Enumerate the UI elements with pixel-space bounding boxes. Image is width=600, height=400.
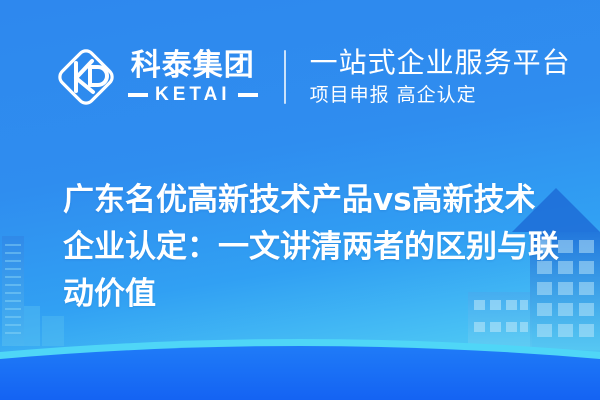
- ketai-kt-monogram-icon: [56, 47, 116, 107]
- tagline-block: 一站式企业服务平台 项目申报 高企认定: [310, 46, 571, 108]
- banner-header: 科泰集团 KETAI 一站式企业服务平台 项目申报 高企认定: [0, 34, 600, 120]
- tagline-secondary: 项目申报 高企认定: [310, 82, 571, 108]
- page-title: 广东名优高新技术产品vs高新技术企业认定：一文讲清两者的区别与联动价值: [63, 177, 563, 318]
- dash-right-icon: [238, 93, 258, 97]
- brand-wordmark: 科泰集团 KETAI: [128, 50, 258, 105]
- brand-name-cn: 科泰集团: [131, 50, 255, 82]
- curved-ground-wave: [0, 339, 600, 400]
- dash-left-icon: [128, 93, 148, 97]
- header-divider: [284, 50, 286, 104]
- brand-logo: 科泰集团 KETAI: [56, 47, 258, 107]
- brand-name-latin: KETAI: [155, 85, 231, 105]
- brand-name-latin-row: KETAI: [128, 85, 258, 105]
- promo-banner: 科泰集团 KETAI 一站式企业服务平台 项目申报 高企认定 广东名优高新技术产…: [0, 0, 600, 400]
- tagline-primary: 一站式企业服务平台: [310, 46, 571, 80]
